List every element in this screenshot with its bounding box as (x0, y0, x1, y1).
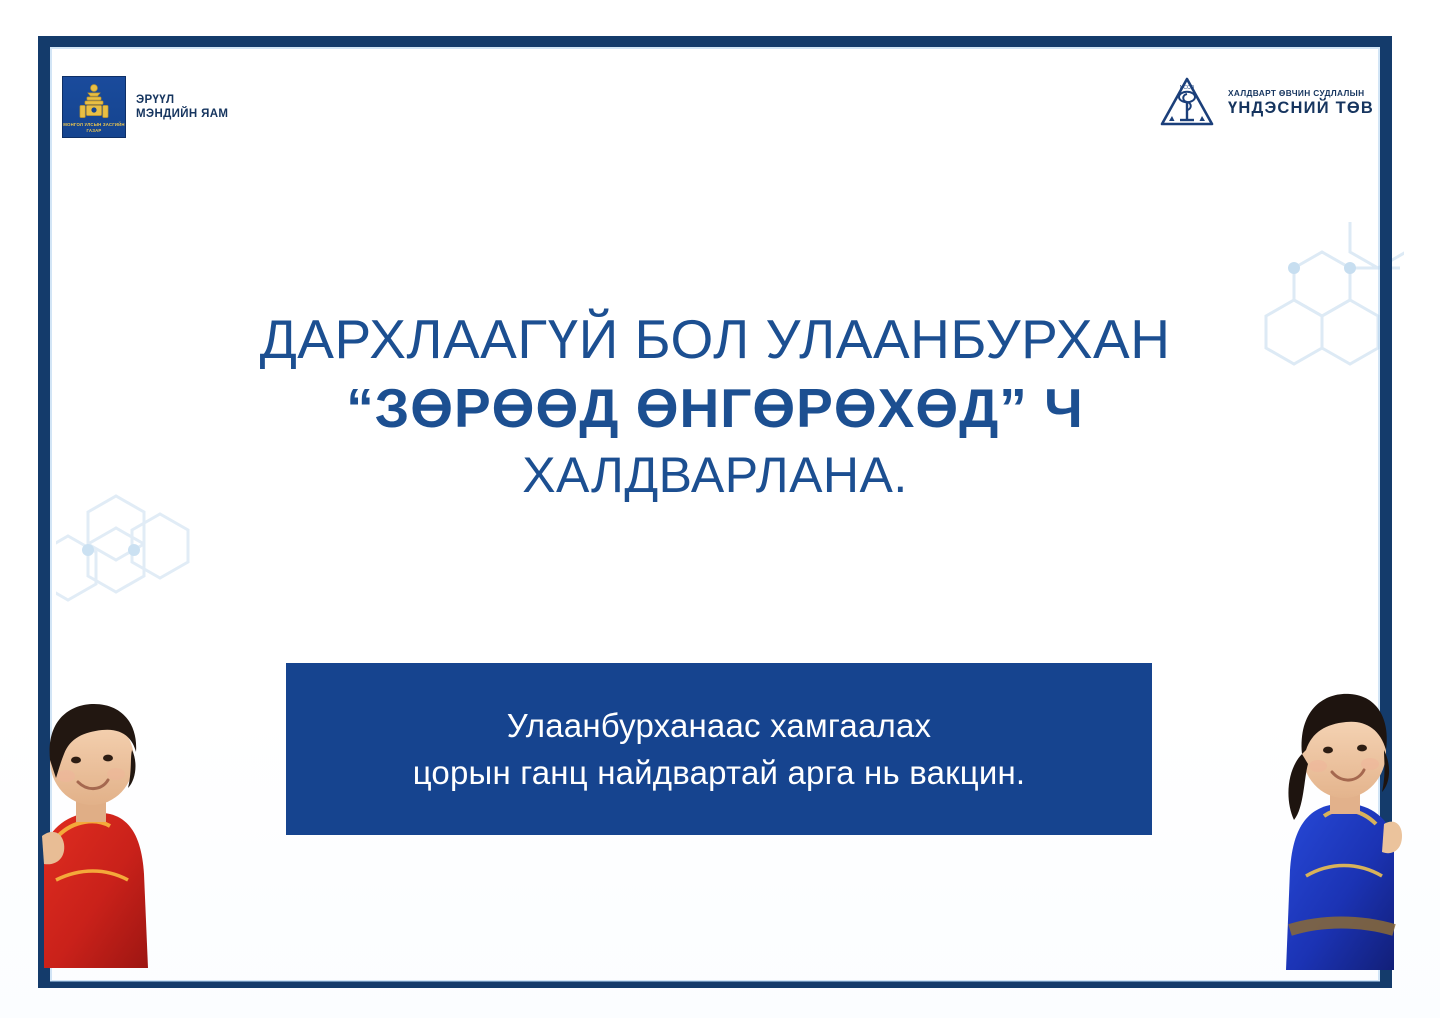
poster-border-frame (38, 36, 1392, 988)
boy-in-red-deel-photo (36, 668, 188, 988)
nccd-subtitle: ХАЛДВАРТ ӨВЧИН СУДЛАЛЫН (1228, 89, 1374, 97)
nccd-triangle-serpent-icon: NCCD (1158, 74, 1216, 132)
ministry-of-health-logo: МОНГОЛ УЛСЫН ЗАСГИЙН ГАЗАР ЭРҮҮЛ МЭНДИЙН… (62, 76, 228, 138)
girl-in-blue-deel-photo (1244, 658, 1404, 988)
measles-vaccination-poster: МОНГОЛ УЛСЫН ЗАСГИЙН ГАЗАР ЭРҮҮЛ МЭНДИЙН… (0, 0, 1440, 1018)
message-panel: Улаанбурханаас хамгаалах цорын ганц найд… (286, 663, 1152, 835)
headline-line-1: ДАРХЛААГҮЙ БОЛ УЛААНБУРХАН (50, 306, 1380, 372)
mongolia-state-emblem-icon: МОНГОЛ УЛСЫН ЗАСГИЙН ГАЗАР (62, 76, 126, 138)
message-panel-text: Улаанбурханаас хамгаалах цорын ганц найд… (387, 702, 1052, 796)
headline-block: ДАРХЛААГҮЙ БОЛ УЛААНБУРХАН “ЗӨРӨӨД ӨНГӨР… (50, 306, 1380, 506)
ministry-name-label: ЭРҮҮЛ МЭНДИЙН ЯАМ (136, 93, 228, 122)
headline-line-2: “ЗӨРӨӨД ӨНГӨРӨХӨД” Ч (50, 372, 1380, 444)
nccd-title: ҮНДЭСНИЙ ТӨВ (1228, 100, 1374, 117)
emblem-caption: МОНГОЛ УЛСЫН ЗАСГИЙН ГАЗАР (63, 122, 125, 133)
svg-text:NCCD: NCCD (1180, 85, 1195, 91)
nccd-logo: NCCD ХАЛДВАРТ ӨВЧИН СУДЛАЛЫН ҮНДЭСНИЙ ТӨ… (1158, 74, 1374, 132)
headline-line-3: ХАЛДВАРЛАНА. (50, 444, 1380, 506)
